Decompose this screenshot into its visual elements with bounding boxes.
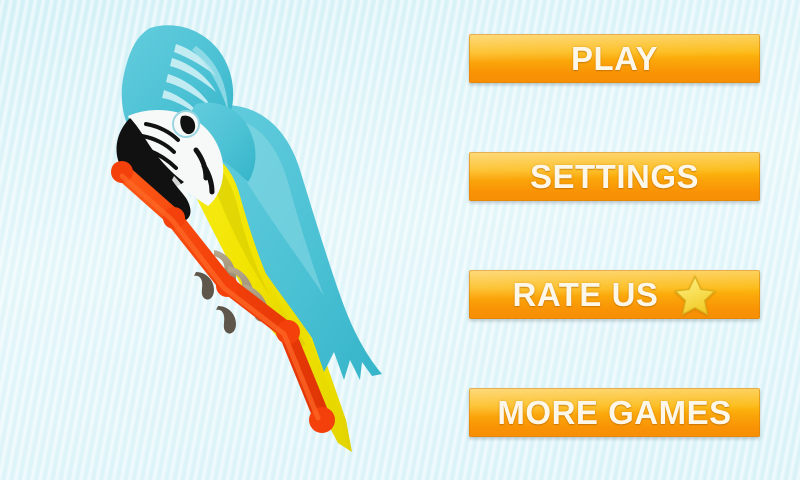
settings-button[interactable]: SETTINGS <box>469 152 760 201</box>
main-menu: PLAY SETTINGS RATE US <box>469 0 764 480</box>
game-main-menu-screen: PLAY SETTINGS RATE US <box>0 0 800 480</box>
more-games-button-label: MORE GAMES <box>497 396 731 429</box>
play-button-label: PLAY <box>571 42 658 75</box>
settings-button-label: SETTINGS <box>530 160 699 193</box>
star-icon <box>674 274 716 316</box>
play-button[interactable]: PLAY <box>469 34 760 83</box>
rate-us-button[interactable]: RATE US <box>469 270 760 319</box>
rate-us-button-label: RATE US <box>513 278 659 311</box>
more-games-button[interactable]: MORE GAMES <box>469 388 760 437</box>
parrot-illustration <box>0 0 460 480</box>
rate-us-content: RATE US <box>513 274 717 316</box>
